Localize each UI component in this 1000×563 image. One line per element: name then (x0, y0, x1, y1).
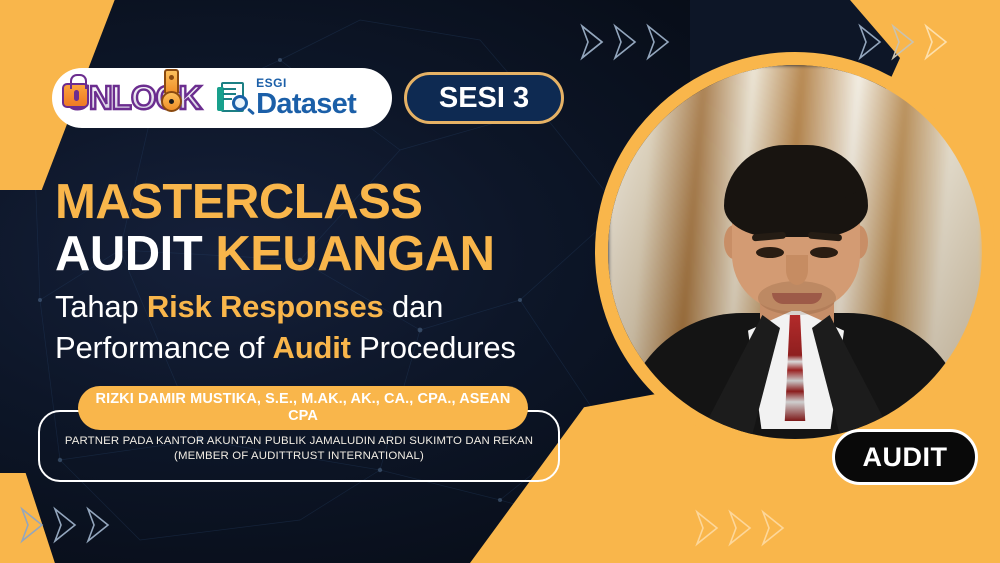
subtitle-2-post: Procedures (351, 330, 516, 365)
audit-badge[interactable]: AUDIT (832, 429, 978, 485)
subtitle-1-pre: Tahap (55, 289, 147, 324)
subtitle-1-highlight: Risk Responses (147, 289, 384, 324)
subtitle-line-1: Tahap Risk Responses dan (55, 286, 615, 327)
chevron-right-icon (51, 505, 81, 545)
padlock-icon (62, 83, 89, 108)
unlock-logo[interactable]: UNLOCK (66, 79, 201, 117)
hair (724, 145, 868, 237)
title-audit-word: AUDIT (55, 227, 202, 281)
speaker-credentials: PARTNER PADA KANTOR AKUNTAN PUBLIK JAMAL… (46, 434, 552, 463)
title-keuangan-word: KEUANGAN (215, 227, 494, 281)
brand-logo-pill[interactable]: UNLOCK ESGI Dataset (52, 68, 392, 128)
chevron-right-icon (578, 22, 608, 62)
chevron-group-top-center (578, 22, 674, 62)
subtitle-line-2: Performance of Audit Procedures (55, 327, 615, 368)
document-search-icon (219, 80, 251, 116)
chevron-right-icon (611, 22, 641, 62)
dataset-label: Dataset (256, 90, 356, 119)
poster-canvas: UNLOCK ESGI Dataset SESI 3 MASTERCLASS A… (0, 0, 1000, 563)
person-figure (608, 65, 982, 439)
eye-left (756, 247, 784, 258)
key-icon (164, 69, 179, 113)
credential-line-1: PARTNER PADA KANTOR AKUNTAN PUBLIK JAMAL… (46, 434, 552, 449)
speaker-name: RIZKI DAMIR MUSTIKA, S.E., M.AK., AK., C… (90, 391, 516, 425)
subtitle-2-highlight: Audit (273, 330, 351, 365)
esgi-dataset-logo[interactable]: ESGI Dataset (219, 77, 356, 119)
subtitle-1-post: dan (384, 289, 444, 324)
chevron-right-icon (644, 22, 674, 62)
subtitle-2-pre: Performance of (55, 330, 273, 365)
nose (786, 255, 808, 285)
audit-badge-label: AUDIT (863, 442, 948, 473)
speaker-photo (608, 65, 982, 439)
page-title: MASTERCLASS AUDIT KEUANGAN (55, 177, 615, 281)
credential-line-2: (MEMBER OF AUDITTRUST INTERNATIONAL) (46, 449, 552, 464)
session-badge[interactable]: SESI 3 (404, 72, 564, 124)
eye-right (810, 247, 838, 258)
page-subtitle: Tahap Risk Responses dan Performance of … (55, 286, 615, 368)
title-line-1: MASTERCLASS (55, 177, 615, 229)
speaker-name-pill: RIZKI DAMIR MUSTIKA, S.E., M.AK., AK., C… (78, 386, 528, 430)
session-badge-label: SESI 3 (439, 82, 529, 115)
orange-shape-bottom-left (0, 473, 74, 563)
mouth (772, 293, 822, 304)
title-line-2: AUDIT KEUANGAN (55, 229, 615, 281)
chevron-right-icon (84, 505, 114, 545)
